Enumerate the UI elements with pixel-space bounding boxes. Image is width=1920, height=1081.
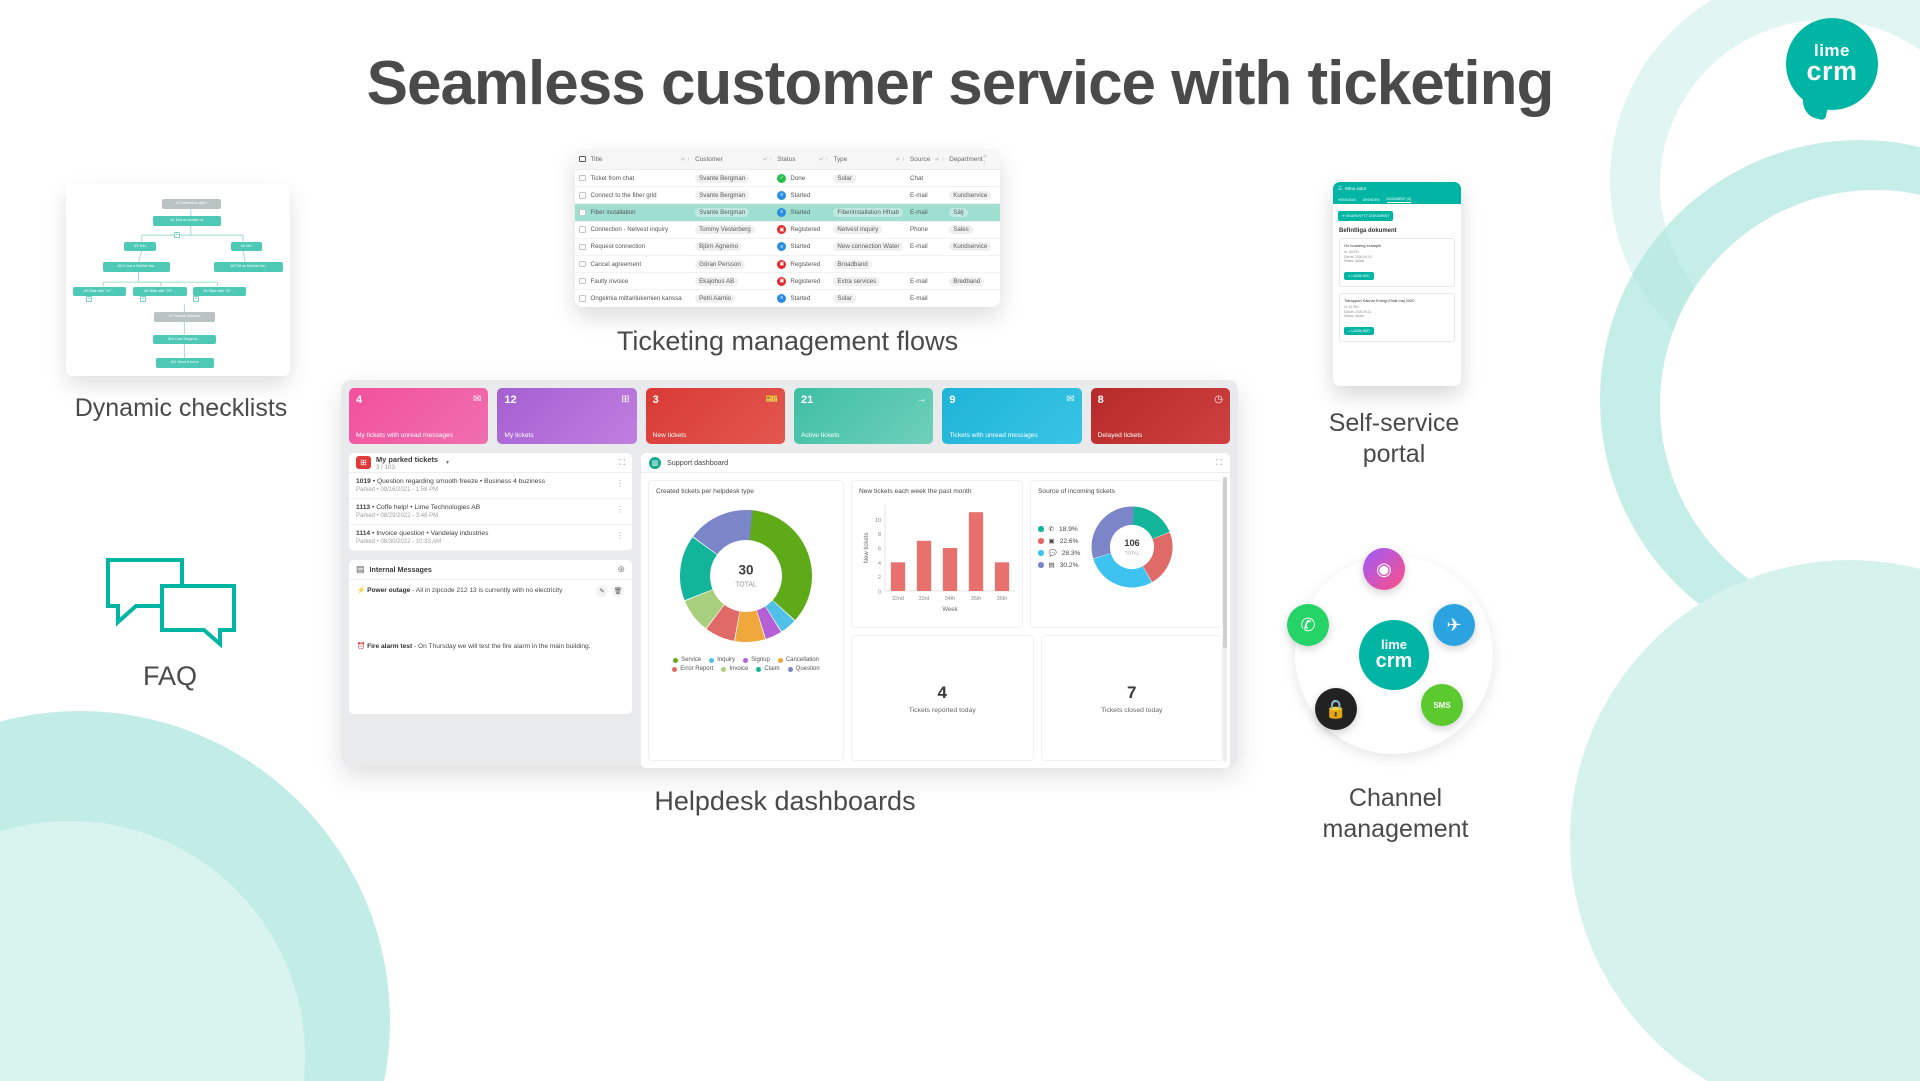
status-badge-icon: ▣ bbox=[777, 260, 786, 269]
kpi-label: My tickets bbox=[504, 432, 533, 439]
pie-slice bbox=[1103, 556, 1148, 578]
ticket-status-time: Parked • 08/29/2022 - 3:46 PM bbox=[356, 513, 625, 519]
cell-status: ✓Done bbox=[777, 174, 833, 183]
support-dashboard-header: ▥ Support dashboard ⛶ bbox=[641, 453, 1230, 473]
row-checkbox[interactable] bbox=[579, 244, 586, 251]
kpi-value: 12 bbox=[504, 394, 629, 406]
legend-item: ▤30.2% bbox=[1038, 561, 1080, 569]
column-label: Department bbox=[949, 156, 982, 163]
row-menu-icon[interactable]: ⋮ bbox=[616, 508, 624, 513]
legend-value: 18.9% bbox=[1059, 526, 1078, 533]
legend-item: Question bbox=[788, 666, 820, 672]
create-document-label: SKAPA NYTT DOKUMENT bbox=[1346, 214, 1389, 218]
pie-slice bbox=[1132, 516, 1161, 536]
cell-title: Faulty invoice bbox=[591, 278, 696, 285]
cell-type: Extra services bbox=[833, 277, 910, 286]
cell-type: Fiberinstallation Hfnab bbox=[833, 208, 910, 217]
cell-department: Bredband bbox=[949, 277, 996, 286]
filter-sort-icons[interactable]: ⩫ ↑ bbox=[763, 156, 778, 163]
screen-icon: ▣ bbox=[1049, 537, 1055, 545]
checklist-node-2[interactable]: #3 Yes! bbox=[124, 242, 155, 252]
cell-source: E-mail bbox=[910, 192, 949, 199]
svg-text:30: 30 bbox=[738, 563, 753, 578]
checklist-add-icon[interactable]: + bbox=[174, 232, 180, 238]
cell-source: Phone bbox=[910, 226, 949, 233]
checklist-connectors bbox=[66, 184, 290, 376]
chart-title-source: Source of incoming tickets bbox=[1038, 488, 1215, 495]
legend-item: Error Report bbox=[672, 666, 713, 672]
column-label: Type bbox=[833, 156, 847, 163]
legend-item: ▣22.6% bbox=[1038, 537, 1080, 545]
row-checkbox[interactable] bbox=[579, 226, 586, 233]
clock-icon: ◷ bbox=[1214, 394, 1223, 405]
checklist-node-4[interactable]: #5 O mal a NetGet Ma.. bbox=[103, 262, 170, 272]
x-tick-label: 32nd bbox=[892, 596, 904, 602]
dynamic-checklist-card[interactable]: #2 Determine start?#1 End of number of#3… bbox=[66, 184, 290, 376]
column-header-customer[interactable]: Customer ⩫ ↑ bbox=[695, 156, 777, 163]
filter-sort-icons[interactable]: ⩫ ↑ bbox=[895, 156, 910, 163]
portal-header: ☰ Mina sidor bbox=[1333, 182, 1461, 195]
download-button[interactable]: ⇩ LADDA NED bbox=[1344, 272, 1374, 280]
parked-tickets-title: My parked tickets bbox=[376, 455, 438, 464]
cell-status: ≡Started bbox=[777, 191, 833, 200]
donut-chart-helpdesk-type: 30 TOTAL bbox=[671, 501, 821, 651]
logo-line2: crm bbox=[1806, 59, 1857, 85]
pie-slice bbox=[715, 617, 736, 626]
legend-item: ✆18.9% bbox=[1038, 525, 1080, 533]
plus-circle-icon[interactable]: ⊕ bbox=[617, 564, 625, 575]
svg-text:TOTAL: TOTAL bbox=[735, 582, 757, 589]
y-axis-label: New tickets bbox=[864, 533, 870, 564]
cell-customer: Svante Bergman bbox=[695, 174, 777, 183]
dashboard-scrollbar[interactable] bbox=[1223, 477, 1227, 762]
cell-status: ▣Registered bbox=[777, 260, 833, 269]
cell-status: ≡Started bbox=[777, 294, 833, 303]
caption-portal-line1: Self-service bbox=[1290, 408, 1498, 439]
created-tickets-chart: Created tickets per helpdesk type 30 TOT… bbox=[648, 480, 844, 761]
legend-value: 22.6% bbox=[1060, 538, 1079, 545]
portal-document-item[interactable]: On boarding exampleId: 162761Datum: 2020… bbox=[1339, 238, 1455, 287]
chat-icon: 💬 bbox=[1049, 549, 1057, 557]
bar bbox=[917, 541, 931, 591]
legend-item: Claim bbox=[756, 666, 779, 672]
kpi-card[interactable]: 8◷Delayed tickets bbox=[1091, 388, 1230, 444]
column-header-department[interactable]: Department ⩫ ↑ bbox=[949, 153, 996, 166]
row-checkbox[interactable] bbox=[579, 295, 586, 302]
form-icon: ▤ bbox=[1049, 561, 1055, 569]
y-tick-label: 2 bbox=[878, 575, 881, 581]
legend-item: Inquiry bbox=[709, 657, 735, 663]
cell-customer: Svante Bergman bbox=[695, 208, 777, 217]
column-label: Title bbox=[591, 156, 603, 163]
legend-item: Cancellation bbox=[778, 657, 819, 663]
cell-title: Ticket from chat bbox=[591, 175, 696, 182]
bg-blob-bottom-right bbox=[1570, 560, 1920, 1081]
pie-slice bbox=[774, 611, 784, 619]
envelope-plus-icon: ✉ bbox=[473, 394, 481, 405]
ticket-rows-container: Ticket from chatSvante Bergman✓DoneSolar… bbox=[575, 170, 1000, 307]
tickets-reported-caption: Tickets reported today bbox=[909, 707, 976, 714]
caption-helpdesk: Helpdesk dashboards bbox=[620, 785, 950, 818]
row-checkbox[interactable] bbox=[579, 261, 586, 268]
cell-title: Cancel agreement bbox=[591, 261, 696, 268]
status-badge-icon: ▣ bbox=[777, 225, 786, 234]
legend-item: Signup bbox=[743, 657, 770, 663]
briefcase-plus-icon: ⊞ bbox=[621, 394, 629, 405]
cell-department: Kundservice bbox=[949, 242, 996, 251]
lightning-icon: ⚡ bbox=[357, 587, 365, 594]
column-header-title[interactable]: Title ⩫ ↑ bbox=[591, 156, 696, 163]
caption-channels-line1: Channel bbox=[1288, 783, 1503, 814]
row-checkbox[interactable] bbox=[579, 278, 586, 285]
filter-sort-icons[interactable]: ⩫ ↑ bbox=[935, 156, 950, 163]
list-item[interactable]: 1019 • Question regarding smooth freeze … bbox=[349, 473, 632, 499]
cell-type: Netvest inquiry bbox=[833, 225, 910, 234]
table-row[interactable]: Fiber installationSvante Bergman≡Started… bbox=[575, 204, 1000, 221]
portal-documents-list: On boarding exampleId: 162761Datum: 2020… bbox=[1333, 238, 1461, 342]
kpi-label: My tickets with unread messages bbox=[356, 432, 453, 439]
tickets-reported-value: 4 bbox=[938, 683, 947, 703]
cell-title: Fiber installation bbox=[591, 209, 696, 216]
chart-icon: ▥ bbox=[649, 457, 661, 469]
kpi-label: New tickets bbox=[653, 432, 687, 439]
pie-slice bbox=[1148, 536, 1164, 574]
checklist-flow-diagram: #2 Determine start?#1 End of number of#3… bbox=[66, 184, 290, 376]
legend-source: ✆18.9%▣22.6%💬28.3%▤30.2% bbox=[1038, 525, 1080, 569]
helpdesk-dashboard-card[interactable]: 4✉My tickets with unread messages12⊞My t… bbox=[341, 380, 1238, 766]
kpi-label: Delayed tickets bbox=[1098, 432, 1143, 439]
status-badge-icon: ≡ bbox=[777, 191, 786, 200]
kpi-cards-row: 4✉My tickets with unread messages12⊞My t… bbox=[349, 388, 1230, 444]
cell-title: Request connection bbox=[591, 243, 696, 250]
status-badge-icon: ✓ bbox=[777, 174, 786, 183]
ticketing-table-card[interactable]: Title ⩫ ↑ Customer ⩫ ↑ Status ⩫ ↑ Type ⩫… bbox=[575, 149, 1000, 307]
tickets-reported-today-box: 4 Tickets reported today bbox=[851, 635, 1034, 761]
table-row[interactable]: Connect to the fiber gridSvante Bergman≡… bbox=[575, 187, 1000, 204]
cell-title: Connection - Netvest inquiry bbox=[591, 226, 696, 233]
bar bbox=[995, 562, 1009, 591]
cell-type: Broadband bbox=[833, 260, 910, 269]
kpi-card[interactable]: 12⊞My tickets bbox=[497, 388, 636, 444]
checklist-add-icon[interactable]: + bbox=[86, 296, 92, 302]
pie-slice bbox=[761, 619, 773, 624]
select-all-checkbox[interactable] bbox=[579, 156, 586, 163]
legend-value: 28.3% bbox=[1062, 550, 1081, 557]
telegram-icon[interactable]: ✈ bbox=[1433, 604, 1475, 646]
message-title: Fire alarm test bbox=[367, 643, 412, 650]
caption-dynamic-checklists: Dynamic checklists bbox=[36, 393, 326, 424]
whatsapp-icon[interactable]: ✆ bbox=[1287, 604, 1329, 646]
messenger-icon[interactable]: ◉ bbox=[1363, 548, 1405, 590]
pie-slice bbox=[699, 595, 715, 616]
portal-tab-0[interactable]: HEMSIDAN bbox=[1338, 198, 1356, 202]
filter-sort-icons[interactable]: ⩫ ↑ bbox=[680, 156, 695, 163]
expand-icon[interactable]: ⛶ bbox=[619, 458, 625, 468]
row-checkbox[interactable] bbox=[579, 192, 586, 199]
cell-status: ≡Started bbox=[777, 242, 833, 251]
cell-source: E-mail bbox=[910, 209, 949, 216]
pie-slice bbox=[705, 525, 751, 545]
parked-tickets-list: 1019 • Question regarding smooth freeze … bbox=[349, 473, 632, 551]
kpi-card[interactable]: 9✉Tickets with unread messages bbox=[942, 388, 1081, 444]
alarm-icon: ⏰ bbox=[357, 643, 365, 650]
row-menu-icon[interactable]: ⋮ bbox=[616, 482, 624, 487]
legend-helpdesk-type: ServiceInquirySignupCancellationError Re… bbox=[656, 657, 836, 672]
checklist-node-8[interactable]: #9 Slide with "22" ... bbox=[193, 287, 247, 297]
ticket-summary: 1113 • Coffe help! • Lime Technologies A… bbox=[356, 504, 625, 511]
column-label: Status bbox=[777, 156, 795, 163]
kpi-card[interactable]: 21→Active tickets bbox=[794, 388, 933, 444]
cell-source: E-mail bbox=[910, 278, 949, 285]
status-badge-icon: ≡ bbox=[777, 294, 786, 303]
internal-messages-title: Internal Messages bbox=[370, 565, 432, 574]
ticket-summary: 1019 • Question regarding smooth freeze … bbox=[356, 478, 625, 485]
cell-source: E-mail bbox=[910, 243, 949, 250]
cell-status: ≡Started bbox=[777, 208, 833, 217]
checklist-node-3[interactable]: #4 No! bbox=[231, 242, 262, 252]
svg-text:106: 106 bbox=[1125, 538, 1140, 548]
status-badge-icon: ▣ bbox=[777, 277, 786, 286]
cell-customer: Ekajohus AB bbox=[695, 277, 777, 286]
caption-channels: Channel management bbox=[1288, 783, 1503, 844]
x-tick-label: 36th bbox=[997, 596, 1008, 602]
kpi-value: 8 bbox=[1098, 394, 1223, 406]
caption-portal: Self-service portal bbox=[1290, 408, 1498, 469]
kpi-card[interactable]: 4✉My tickets with unread messages bbox=[349, 388, 488, 444]
portal-document-item[interactable]: Tidrapport Kalmar Energi Elnät maj 2020I… bbox=[1339, 293, 1455, 342]
legend-item: Service bbox=[673, 657, 701, 663]
checklist-node-9[interactable]: #7 Provide Indicator bbox=[154, 312, 214, 322]
table-row[interactable]: Cancel agreementGöran Persson▣Registered… bbox=[575, 256, 1000, 273]
row-checkbox[interactable] bbox=[579, 209, 586, 216]
edit-icon[interactable]: ✎ bbox=[596, 585, 608, 597]
legend-item: Invoice bbox=[721, 666, 748, 672]
x-axis-label: Week bbox=[942, 607, 958, 613]
ticket-status-time: Parked • 09/16/2021 - 1:58 PM bbox=[356, 487, 625, 493]
trash-icon[interactable]: 🗑 bbox=[612, 585, 624, 597]
channel-management-graphic: lime crm ◉✈✆SMS🔒 bbox=[1295, 556, 1493, 754]
message-title: Power outage bbox=[367, 587, 410, 594]
document-title: On boarding example bbox=[1344, 243, 1450, 248]
arrow-flow-icon: → bbox=[916, 394, 926, 405]
cell-status: ▣Registered bbox=[777, 225, 833, 234]
checklist-node-0[interactable]: #2 Determine start? bbox=[162, 199, 220, 209]
x-tick-label: 35th bbox=[971, 596, 982, 602]
checklist-node-6[interactable]: #9 Slide with "14" ... bbox=[73, 287, 127, 297]
download-button[interactable]: ⇩ LADDA NED bbox=[1344, 327, 1374, 335]
table-row[interactable]: Ticket from chatSvante Bergman✓DoneSolar… bbox=[575, 170, 1000, 187]
page-title: Seamless customer service with ticketing bbox=[0, 48, 1920, 119]
caption-ticketing: Ticketing management flows bbox=[560, 325, 1015, 358]
checklist-node-1[interactable]: #1 End of number of bbox=[153, 216, 220, 226]
checklist-node-10[interactable]: #10 Card Target to ... bbox=[153, 335, 216, 345]
envelope-icon: ✉ bbox=[1066, 394, 1074, 405]
ticket-summary: 1114 • Invoice question • Vandelay indus… bbox=[356, 530, 625, 537]
secure-chat-icon[interactable]: 🔒 bbox=[1315, 688, 1357, 730]
new-tickets-bar-chart: New tickets each week the past month 024… bbox=[851, 480, 1023, 628]
messages-icon: ▤ bbox=[356, 564, 365, 575]
kpi-label: Tickets with unread messages bbox=[949, 432, 1037, 439]
kpi-value: 9 bbox=[949, 394, 1074, 406]
cell-customer: Tommy Vesterberg bbox=[695, 225, 777, 234]
pie-slice bbox=[695, 546, 705, 595]
column-header-type[interactable]: Type ⩫ ↑ bbox=[833, 156, 910, 163]
ticket-status-time: Parked • 08/30/2022 - 10:33 AM bbox=[356, 539, 625, 545]
cell-customer: Göran Persson bbox=[695, 260, 777, 269]
source-tickets-chart: Source of incoming tickets ✆18.9%▣22.6%💬… bbox=[1030, 480, 1223, 628]
row-checkbox[interactable] bbox=[579, 175, 586, 182]
internal-messages-list: ⚡ Power outage - All in zipcode 212 13 i… bbox=[349, 580, 632, 656]
cell-title: Ongelmia mittarilukemien kanssa bbox=[591, 295, 696, 302]
cell-department: Kundservice bbox=[949, 191, 996, 200]
status-badge-icon: ≡ bbox=[777, 208, 786, 217]
cell-type: Solar bbox=[833, 174, 910, 183]
center-logo-line2: crm bbox=[1376, 652, 1413, 671]
phone-icon: ✆ bbox=[1049, 525, 1055, 533]
column-label: Customer bbox=[695, 156, 723, 163]
message-body: - On Thursday we will test the fire alar… bbox=[414, 643, 591, 650]
tickets-closed-value: 7 bbox=[1127, 683, 1136, 703]
checklist-add-icon[interactable]: + bbox=[193, 296, 199, 302]
cell-status: ▣Registered bbox=[777, 277, 833, 286]
legend-item: 💬28.3% bbox=[1038, 549, 1080, 557]
chevron-down-icon[interactable]: ▾ bbox=[446, 459, 449, 466]
chat-bubbles-icon bbox=[104, 556, 238, 648]
internal-messages-header: ▤ Internal Messages ⊕ bbox=[349, 560, 632, 580]
y-tick-label: 10 bbox=[875, 518, 881, 524]
self-service-portal-card[interactable]: ☰ Mina sidor HEMSIDANÄRENDENDOKUMENT (3)… bbox=[1333, 182, 1461, 386]
list-item[interactable]: 1114 • Invoice question • Vandelay indus… bbox=[349, 525, 632, 551]
portal-heading: Befintliga dokument bbox=[1339, 228, 1455, 234]
pie-slice bbox=[737, 625, 760, 627]
table-row[interactable]: Faulty invoiceEkajohus AB▣RegisteredExtr… bbox=[575, 273, 1000, 290]
status-badge-icon: ≡ bbox=[777, 242, 786, 251]
lime-crm-center-logo: lime crm bbox=[1359, 620, 1429, 690]
checklist-add-icon[interactable]: + bbox=[140, 296, 146, 302]
column-header-status[interactable]: Status ⩫ ↑ bbox=[777, 156, 833, 163]
portal-tabs[interactable]: HEMSIDANÄRENDENDOKUMENT (3) bbox=[1333, 195, 1461, 204]
column-header-source[interactable]: Source ⩫ ↑ bbox=[910, 156, 949, 163]
kpi-value: 4 bbox=[356, 394, 481, 406]
cell-type: Solar bbox=[833, 294, 910, 303]
checklist-node-7[interactable]: #8 Slide with "20" ... bbox=[133, 287, 187, 297]
tickets-closed-caption: Tickets closed today bbox=[1101, 707, 1162, 714]
parked-ticket-icon: ⊞ bbox=[356, 456, 371, 469]
checklist-node-5[interactable]: #6 Full as MeGak Ma.. bbox=[214, 262, 283, 272]
cell-customer: Petri Aarnio bbox=[695, 294, 777, 303]
message-body: - All in zipcode 212 13 is currently wit… bbox=[412, 587, 562, 594]
bar-chart-weekly: 024681032nd33rd34th35th36thWeekNew ticke… bbox=[859, 499, 1019, 617]
cell-source: Chat bbox=[910, 175, 949, 182]
internal-message[interactable]: ⚡ Power outage - All in zipcode 212 13 i… bbox=[349, 580, 632, 636]
cell-customer: Svante Bergman bbox=[695, 191, 777, 200]
kpi-value: 3 bbox=[653, 394, 778, 406]
x-tick-label: 33rd bbox=[919, 596, 930, 602]
kpi-value: 21 bbox=[801, 394, 926, 406]
checklist-node-11[interactable]: #11 Send it out to bbox=[156, 358, 214, 368]
portal-tab-2[interactable]: DOKUMENT (3) bbox=[1387, 197, 1411, 203]
chart-title-new-tickets: New tickets each week the past month bbox=[859, 488, 1015, 495]
internal-messages-panel[interactable]: ▤ Internal Messages ⊕ ⚡ Power outage - A… bbox=[349, 560, 632, 714]
filter-sort-icons[interactable]: ⩫ ↑ bbox=[983, 153, 996, 166]
document-meta: Id: 162761Datum: 2020-04-15Status: Utkas… bbox=[1344, 250, 1450, 264]
y-tick-label: 0 bbox=[878, 590, 881, 596]
menu-icon[interactable]: ☰ bbox=[1338, 186, 1342, 192]
sms-icon[interactable]: SMS bbox=[1421, 684, 1463, 726]
y-tick-label: 8 bbox=[878, 532, 881, 538]
chart-title-created-tickets: Created tickets per helpdesk type bbox=[656, 488, 836, 495]
parked-tickets-header: ⊞ My parked tickets 3 / 103 ▾ ⛶ bbox=[349, 453, 632, 473]
bar bbox=[891, 562, 905, 591]
ticket-new-icon: 🎫 bbox=[766, 394, 778, 405]
legend-value: 30.2% bbox=[1060, 562, 1079, 569]
cell-customer: Björn Agnemo bbox=[695, 242, 777, 251]
cell-department: Sälj bbox=[949, 208, 996, 217]
document-meta: Id: 167851Datum: 2020-06-11Status: Utkas… bbox=[1344, 305, 1450, 319]
table-header-row: Title ⩫ ↑ Customer ⩫ ↑ Status ⩫ ↑ Type ⩫… bbox=[575, 149, 1000, 170]
caption-faq: FAQ bbox=[90, 660, 250, 693]
donut-chart-source: 106 TOTAL bbox=[1086, 501, 1178, 593]
row-menu-icon[interactable]: ⋮ bbox=[616, 534, 624, 539]
support-dashboard-title: Support dashboard bbox=[667, 458, 728, 467]
parked-tickets-panel[interactable]: ⊞ My parked tickets 3 / 103 ▾ ⛶ 1019 • Q… bbox=[349, 453, 632, 551]
table-row[interactable]: Request connectionBjörn Agnemo≡StartedNe… bbox=[575, 239, 1000, 256]
svg-text:TOTAL: TOTAL bbox=[1125, 550, 1140, 555]
filter-sort-icons[interactable]: ⩫ ↑ bbox=[819, 156, 834, 163]
bar bbox=[969, 512, 983, 591]
bar bbox=[943, 548, 957, 591]
pie-slice bbox=[746, 525, 797, 610]
document-title: Tidrapport Kalmar Energi Elnät maj 2020 bbox=[1344, 298, 1450, 303]
lime-crm-logo: lime crm bbox=[1786, 18, 1878, 110]
caption-portal-line2: portal bbox=[1290, 439, 1498, 470]
caption-channels-line2: management bbox=[1288, 814, 1503, 845]
y-tick-label: 4 bbox=[878, 561, 881, 567]
table-row[interactable]: Ongelmia mittarilukemien kanssaPetri Aar… bbox=[575, 290, 1000, 307]
parked-tickets-count: 3 / 103 bbox=[376, 464, 438, 471]
cell-type: New connection Water bbox=[833, 242, 910, 251]
cell-source: E-mail bbox=[910, 295, 949, 302]
kpi-card[interactable]: 3🎫New tickets bbox=[646, 388, 785, 444]
tickets-closed-today-box: 7 Tickets closed today bbox=[1041, 635, 1224, 761]
kpi-label: Active tickets bbox=[801, 432, 839, 439]
cell-department: Sales bbox=[949, 225, 996, 234]
table-row[interactable]: Connection - Netvest inquiryTommy Vester… bbox=[575, 222, 1000, 239]
internal-message[interactable]: ⏰ Fire alarm test - On Thursday we will … bbox=[349, 636, 632, 656]
support-dashboard-panel[interactable]: ▥ Support dashboard ⛶ Created tickets pe… bbox=[641, 453, 1230, 768]
y-tick-label: 6 bbox=[878, 547, 881, 553]
list-item[interactable]: 1113 • Coffe help! • Lime Technologies A… bbox=[349, 499, 632, 525]
expand-icon[interactable]: ⛶ bbox=[1216, 458, 1222, 468]
portal-tab-1[interactable]: ÄRENDEN bbox=[1363, 198, 1380, 202]
x-tick-label: 34th bbox=[945, 596, 956, 602]
column-label: Source bbox=[910, 156, 930, 163]
cell-title: Connect to the fiber grid bbox=[591, 192, 696, 199]
portal-title: Mina sidor bbox=[1345, 186, 1366, 191]
create-document-button[interactable]: ✛ SKAPA NYTT DOKUMENT bbox=[1338, 211, 1393, 221]
